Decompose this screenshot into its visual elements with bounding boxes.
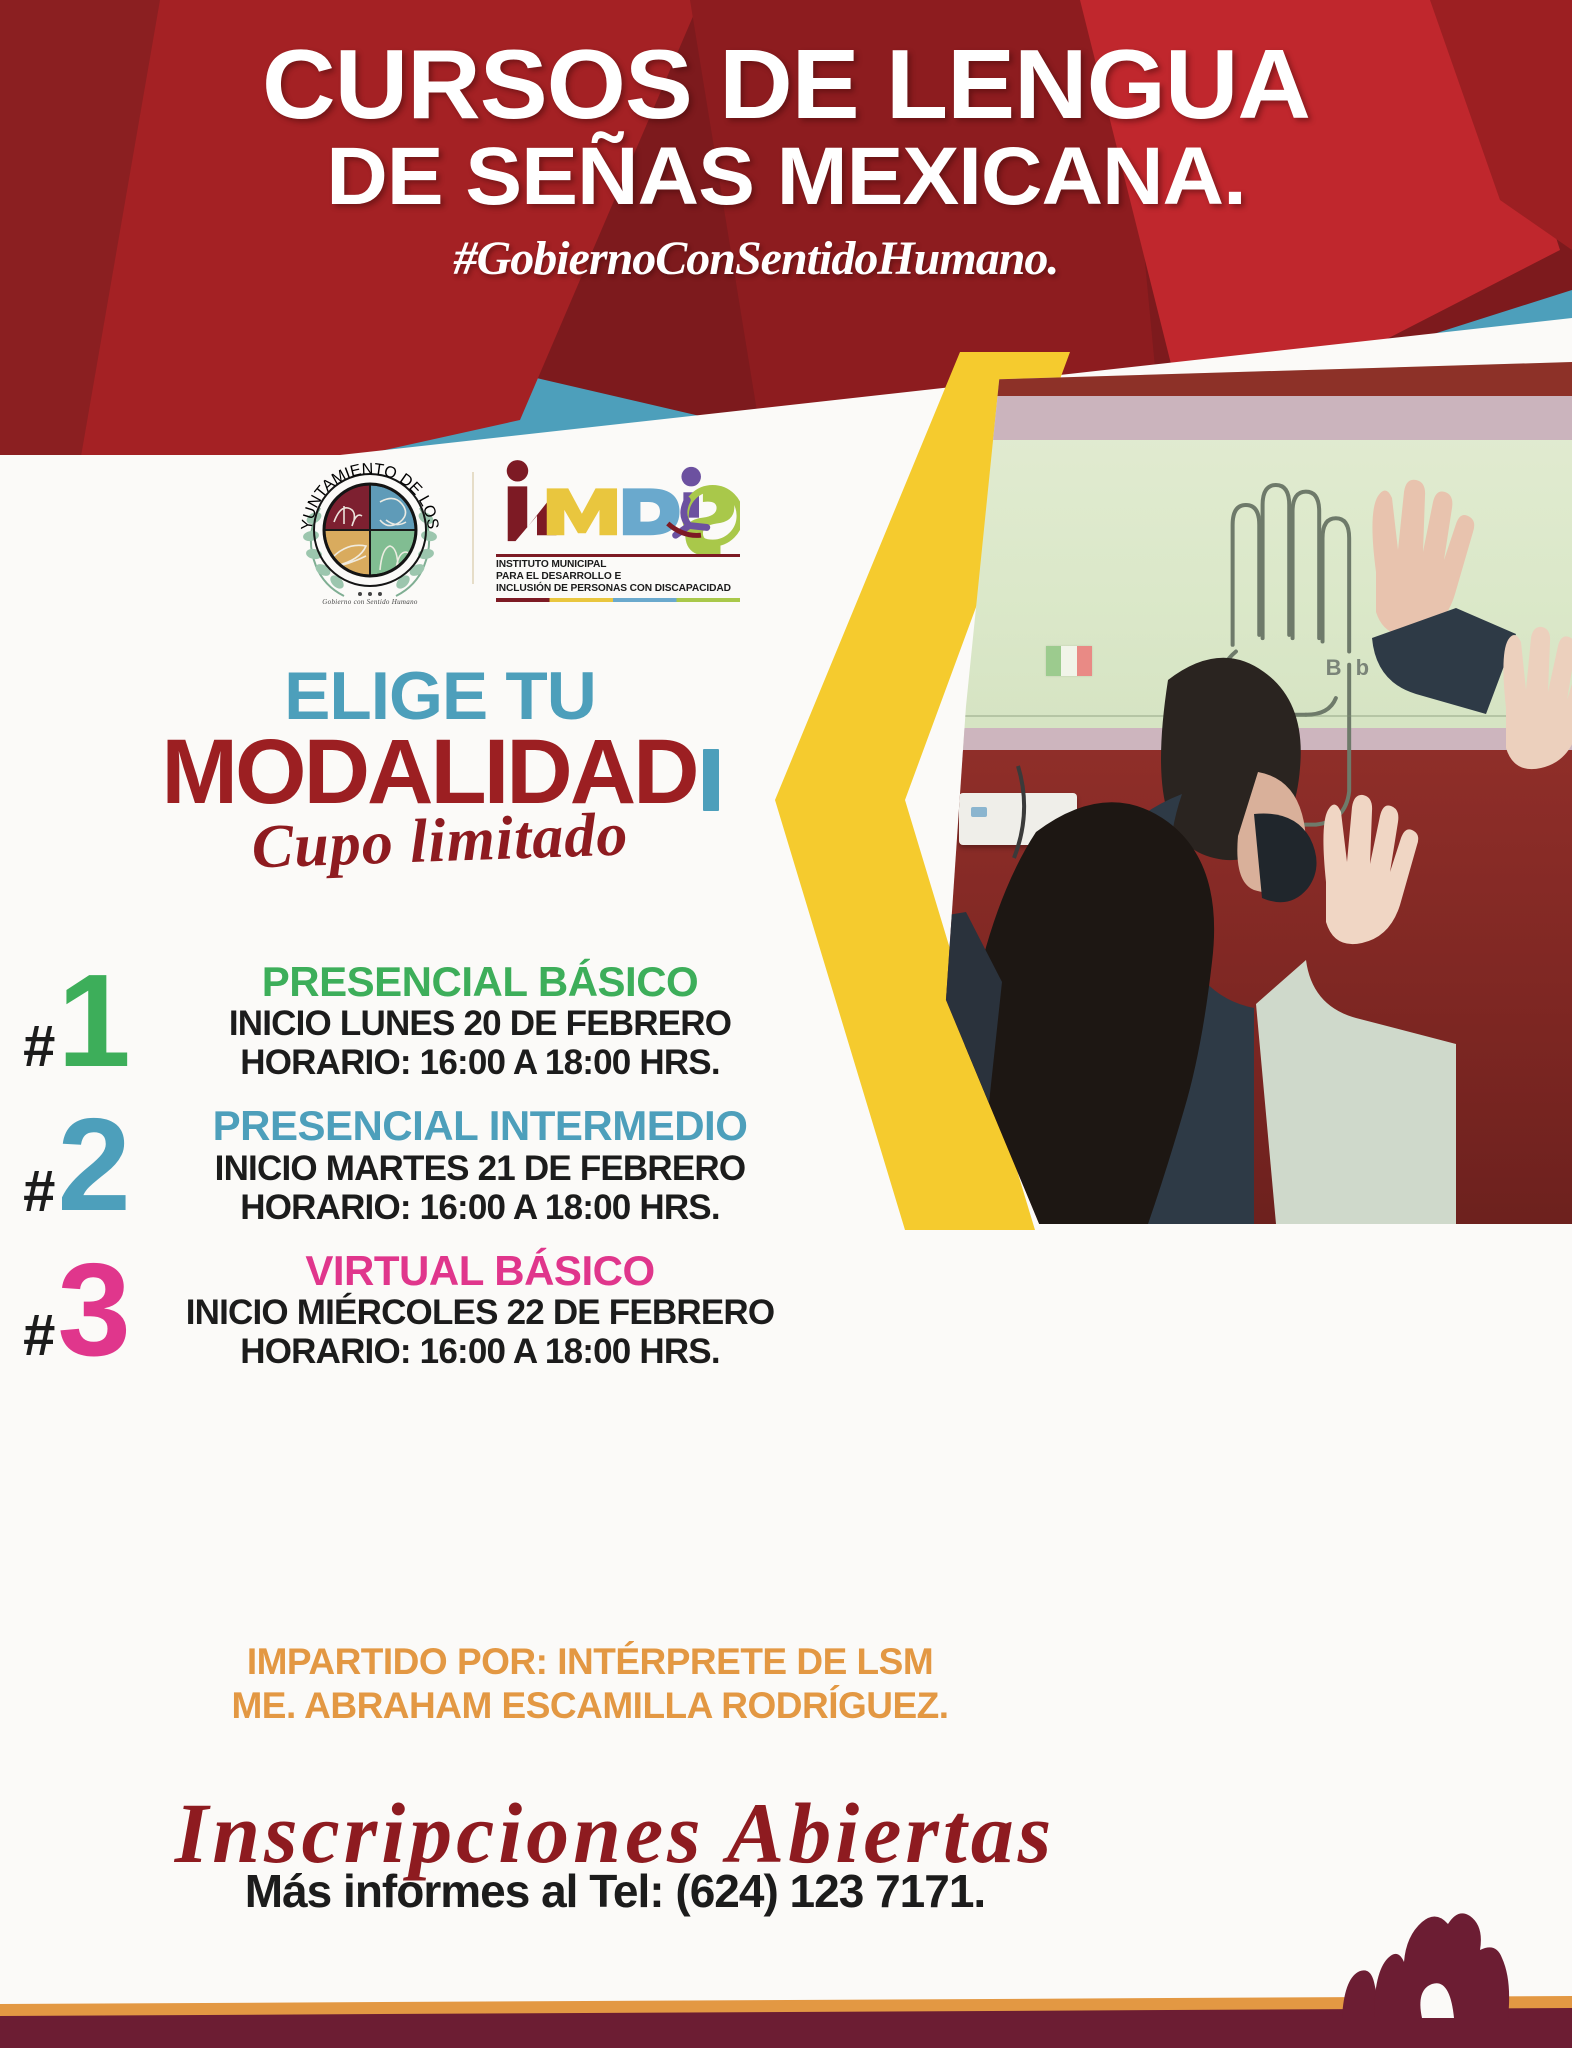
course-name-3: VIRTUAL BÁSICO <box>150 1249 810 1293</box>
course-list: # 1 PRESENCIAL BÁSICO INICIO LUNES 20 DE… <box>0 960 830 1393</box>
course-body-3: VIRTUAL BÁSICO INICIO MIÉRCOLES 22 DE FE… <box>150 1249 830 1371</box>
instructor-block: IMPARTIDO POR: INTÉRPRETE DE LSM ME. ABR… <box>0 1640 1180 1729</box>
student-shoulder-left <box>906 912 1002 1224</box>
hash-symbol-2: # <box>23 1169 55 1215</box>
course-number-3: # 3 <box>0 1259 150 1362</box>
course-number-2: # 2 <box>0 1114 150 1217</box>
hash-symbol-1: # <box>23 1024 55 1070</box>
hashtag-slogan: #GobiernoConSentidoHumano. <box>0 231 1572 286</box>
course-index-1: 1 <box>57 970 126 1073</box>
students-photo-content <box>906 362 1572 1224</box>
choose-modality-block: ELIGE TU MODALIDAD Cupo limitado <box>0 662 880 877</box>
title-line-2: DE SEÑAS MEXICANA. <box>0 138 1572 215</box>
imdis-logo: INSTITUTO MUNICIPAL PARA EL DESARROLLO E… <box>496 454 740 602</box>
logo-divider <box>472 472 474 584</box>
course-item-1[interactable]: # 1 PRESENCIAL BÁSICO INICIO LUNES 20 DE… <box>0 960 830 1082</box>
imdis-subtitle: INSTITUTO MUNICIPAL PARA EL DESARROLLO E… <box>496 559 740 595</box>
los-cabos-arch-silhouette <box>1312 1888 1572 2018</box>
crest-graphic: H. XIV AYUNTAMIENTO DE LOS CABOS <box>290 448 450 608</box>
course-item-2[interactable]: # 2 PRESENCIAL INTERMEDIO INICIO MARTES … <box>0 1104 830 1226</box>
instructor-line-1: IMPARTIDO POR: INTÉRPRETE DE LSM <box>0 1640 1180 1684</box>
choose-line-1: ELIGE TU <box>0 662 889 730</box>
poster-title-block: CURSOS DE LENGUA DE SEÑAS MEXICANA. #Gob… <box>0 38 1572 286</box>
projector-cable <box>1014 766 1024 858</box>
los-cabos-crest-logo: H. XIV AYUNTAMIENTO DE LOS CABOS Gobiern… <box>290 448 450 608</box>
course-schedule-3: HORARIO: 16:00 A 18:00 HRS. <box>150 1332 810 1371</box>
crest-dots <box>358 592 382 596</box>
raised-hand-1 <box>1372 480 1516 714</box>
course-schedule-2: HORARIO: 16:00 A 18:00 HRS. <box>150 1188 810 1227</box>
course-name-1: PRESENCIAL BÁSICO <box>150 960 810 1004</box>
imdis-rule-bottom <box>496 598 740 602</box>
course-schedule-1: HORARIO: 16:00 A 18:00 HRS. <box>150 1043 810 1082</box>
crest-motto: Gobierno con Sentido Humano <box>290 598 450 606</box>
signup-block: Inscripciones Abiertas Más informes al T… <box>0 1790 1230 1918</box>
course-number-1: # 1 <box>0 970 150 1073</box>
poster-canvas: CURSOS DE LENGUA DE SEÑAS MEXICANA. #Gob… <box>0 0 1572 2048</box>
logo-row: H. XIV AYUNTAMIENTO DE LOS CABOS Gobiern… <box>290 438 770 618</box>
imdis-subtitle-line-2: PARA EL DESARROLLO E <box>496 571 740 583</box>
instructor-line-2: ME. ABRAHAM ESCAMILLA RODRÍGUEZ. <box>0 1684 1180 1728</box>
imdis-subtitle-line-1: INSTITUTO MUNICIPAL <box>496 559 740 571</box>
hash-symbol-3: # <box>23 1313 55 1359</box>
course-index-2: 2 <box>57 1114 126 1217</box>
course-body-1: PRESENCIAL BÁSICO INICIO LUNES 20 DE FEB… <box>150 960 830 1082</box>
imdis-subtitle-line-3: INCLUSIÓN DE PERSONAS CON DISCAPACIDAD <box>496 583 740 595</box>
course-index-3: 3 <box>57 1259 126 1362</box>
imdis-rule-top <box>496 554 740 557</box>
course-body-2: PRESENCIAL INTERMEDIO INICIO MARTES 21 D… <box>150 1104 830 1226</box>
course-start-2: INICIO MARTES 21 DE FEBRERO <box>150 1149 810 1188</box>
title-line-1: CURSOS DE LENGUA <box>0 38 1572 130</box>
limited-spots-script: Cupo limitado <box>0 791 881 893</box>
classroom-photo: B b <box>906 362 1572 1224</box>
course-start-1: INICIO LUNES 20 DE FEBRERO <box>150 1004 810 1043</box>
course-item-3[interactable]: # 3 VIRTUAL BÁSICO INICIO MIÉRCOLES 22 D… <box>0 1249 830 1371</box>
imdis-wordmark <box>496 454 740 554</box>
imdis-wordmark-graphic <box>496 454 740 554</box>
course-start-3: INICIO MIÉRCOLES 22 DE FEBRERO <box>150 1293 810 1332</box>
course-name-2: PRESENCIAL INTERMEDIO <box>150 1104 810 1148</box>
raised-hand-2 <box>1503 627 1572 769</box>
